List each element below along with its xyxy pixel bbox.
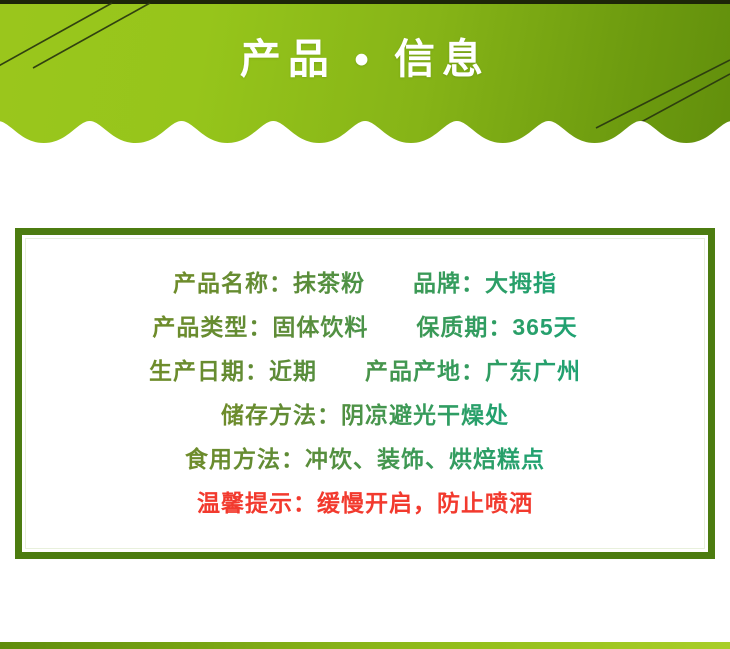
info-row-product-type: 产品类型：固体饮料 保质期：365天 xyxy=(22,305,708,349)
product-info-box: 产品名称：抹茶粉 品牌：大拇指 产品类型：固体饮料 保质期：365天 生产日期：… xyxy=(15,228,715,559)
page-title: 产品 • 信息 xyxy=(0,33,730,85)
info-row-production-date-text: 生产日期：近期 产品产地：广东广州 xyxy=(149,358,581,384)
info-row-product-name-text: 产品名称：抹茶粉 品牌：大拇指 xyxy=(173,270,557,296)
info-row-usage-method-text: 食用方法：冲饮、装饰、烘焙糕点 xyxy=(185,446,545,472)
header-banner: 产品 • 信息 xyxy=(0,0,730,150)
product-info-row-list: 产品名称：抹茶粉 品牌：大拇指 产品类型：固体饮料 保质期：365天 生产日期：… xyxy=(22,261,708,525)
bottom-accent-bar xyxy=(0,642,730,649)
info-row-storage-method-text: 储存方法：阴凉避光干燥处 xyxy=(221,402,509,428)
info-row-product-type-text: 产品类型：固体饮料 保质期：365天 xyxy=(152,314,577,340)
info-row-warm-tips: 温馨提示：缓慢开启，防止喷洒 xyxy=(22,481,708,525)
product-info-page: 产品 • 信息 产品名称：抹茶粉 品牌：大拇指 产品类型：固体饮料 保质期：36… xyxy=(0,0,730,649)
banner-wave-edge xyxy=(0,99,730,150)
info-row-usage-method: 食用方法：冲饮、装饰、烘焙糕点 xyxy=(22,437,708,481)
info-row-storage-method: 储存方法：阴凉避光干燥处 xyxy=(22,393,708,437)
info-row-production-date: 生产日期：近期 产品产地：广东广州 xyxy=(22,349,708,393)
info-row-product-name: 产品名称：抹茶粉 品牌：大拇指 xyxy=(22,261,708,305)
info-row-warm-tips-text: 温馨提示：缓慢开启，防止喷洒 xyxy=(197,490,533,516)
